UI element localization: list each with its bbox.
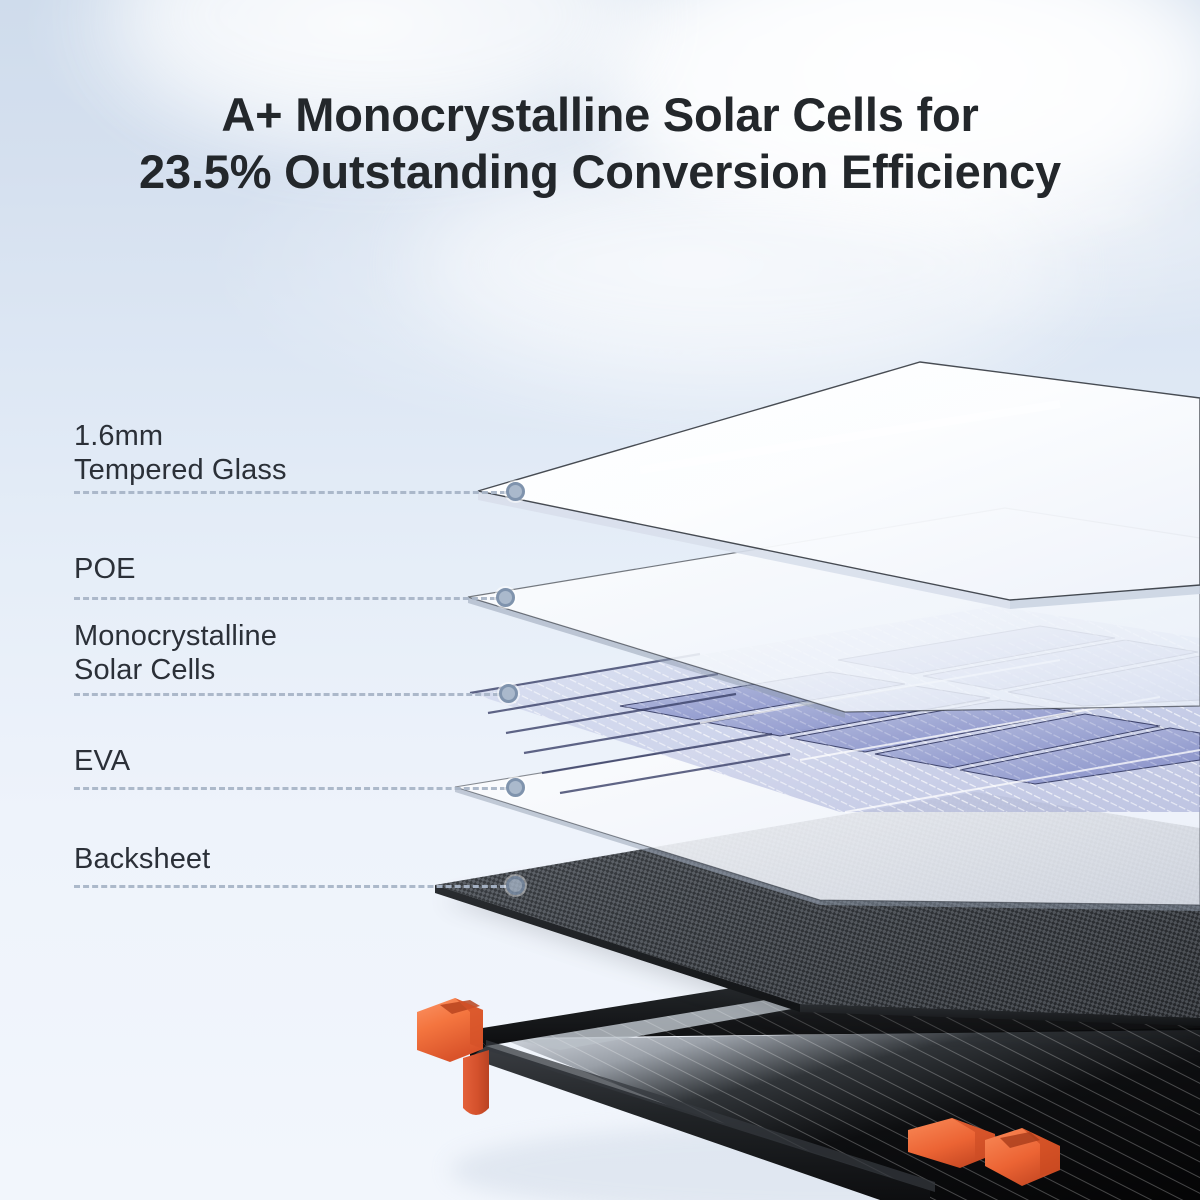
label-eva: EVA	[74, 745, 130, 779]
leader-line-solar-cells	[74, 693, 499, 696]
label-solar-cells: Monocrystalline Solar Cells	[74, 620, 277, 688]
corner-clips-layer	[0, 0, 1200, 1200]
marker-eva	[506, 778, 525, 797]
infographic-canvas: A+ Monocrystalline Solar Cells for 23.5%…	[0, 0, 1200, 1200]
label-backsheet: Backsheet	[74, 843, 210, 877]
clip-strap	[463, 1050, 489, 1115]
leader-line-backsheet	[74, 885, 506, 888]
marker-solar-cells	[499, 684, 518, 703]
marker-backsheet	[506, 876, 525, 895]
clip-bottom-left	[908, 1118, 995, 1168]
leader-line-tempered-glass	[74, 491, 506, 494]
label-poe: POE	[74, 553, 136, 587]
label-tempered-glass: 1.6mm Tempered Glass	[74, 420, 287, 488]
clip-left	[417, 998, 489, 1115]
leader-line-poe	[74, 597, 496, 600]
clip-bottom-right	[985, 1128, 1060, 1186]
leader-line-eva	[74, 787, 506, 790]
marker-poe	[496, 588, 515, 607]
marker-tempered-glass	[506, 482, 525, 501]
